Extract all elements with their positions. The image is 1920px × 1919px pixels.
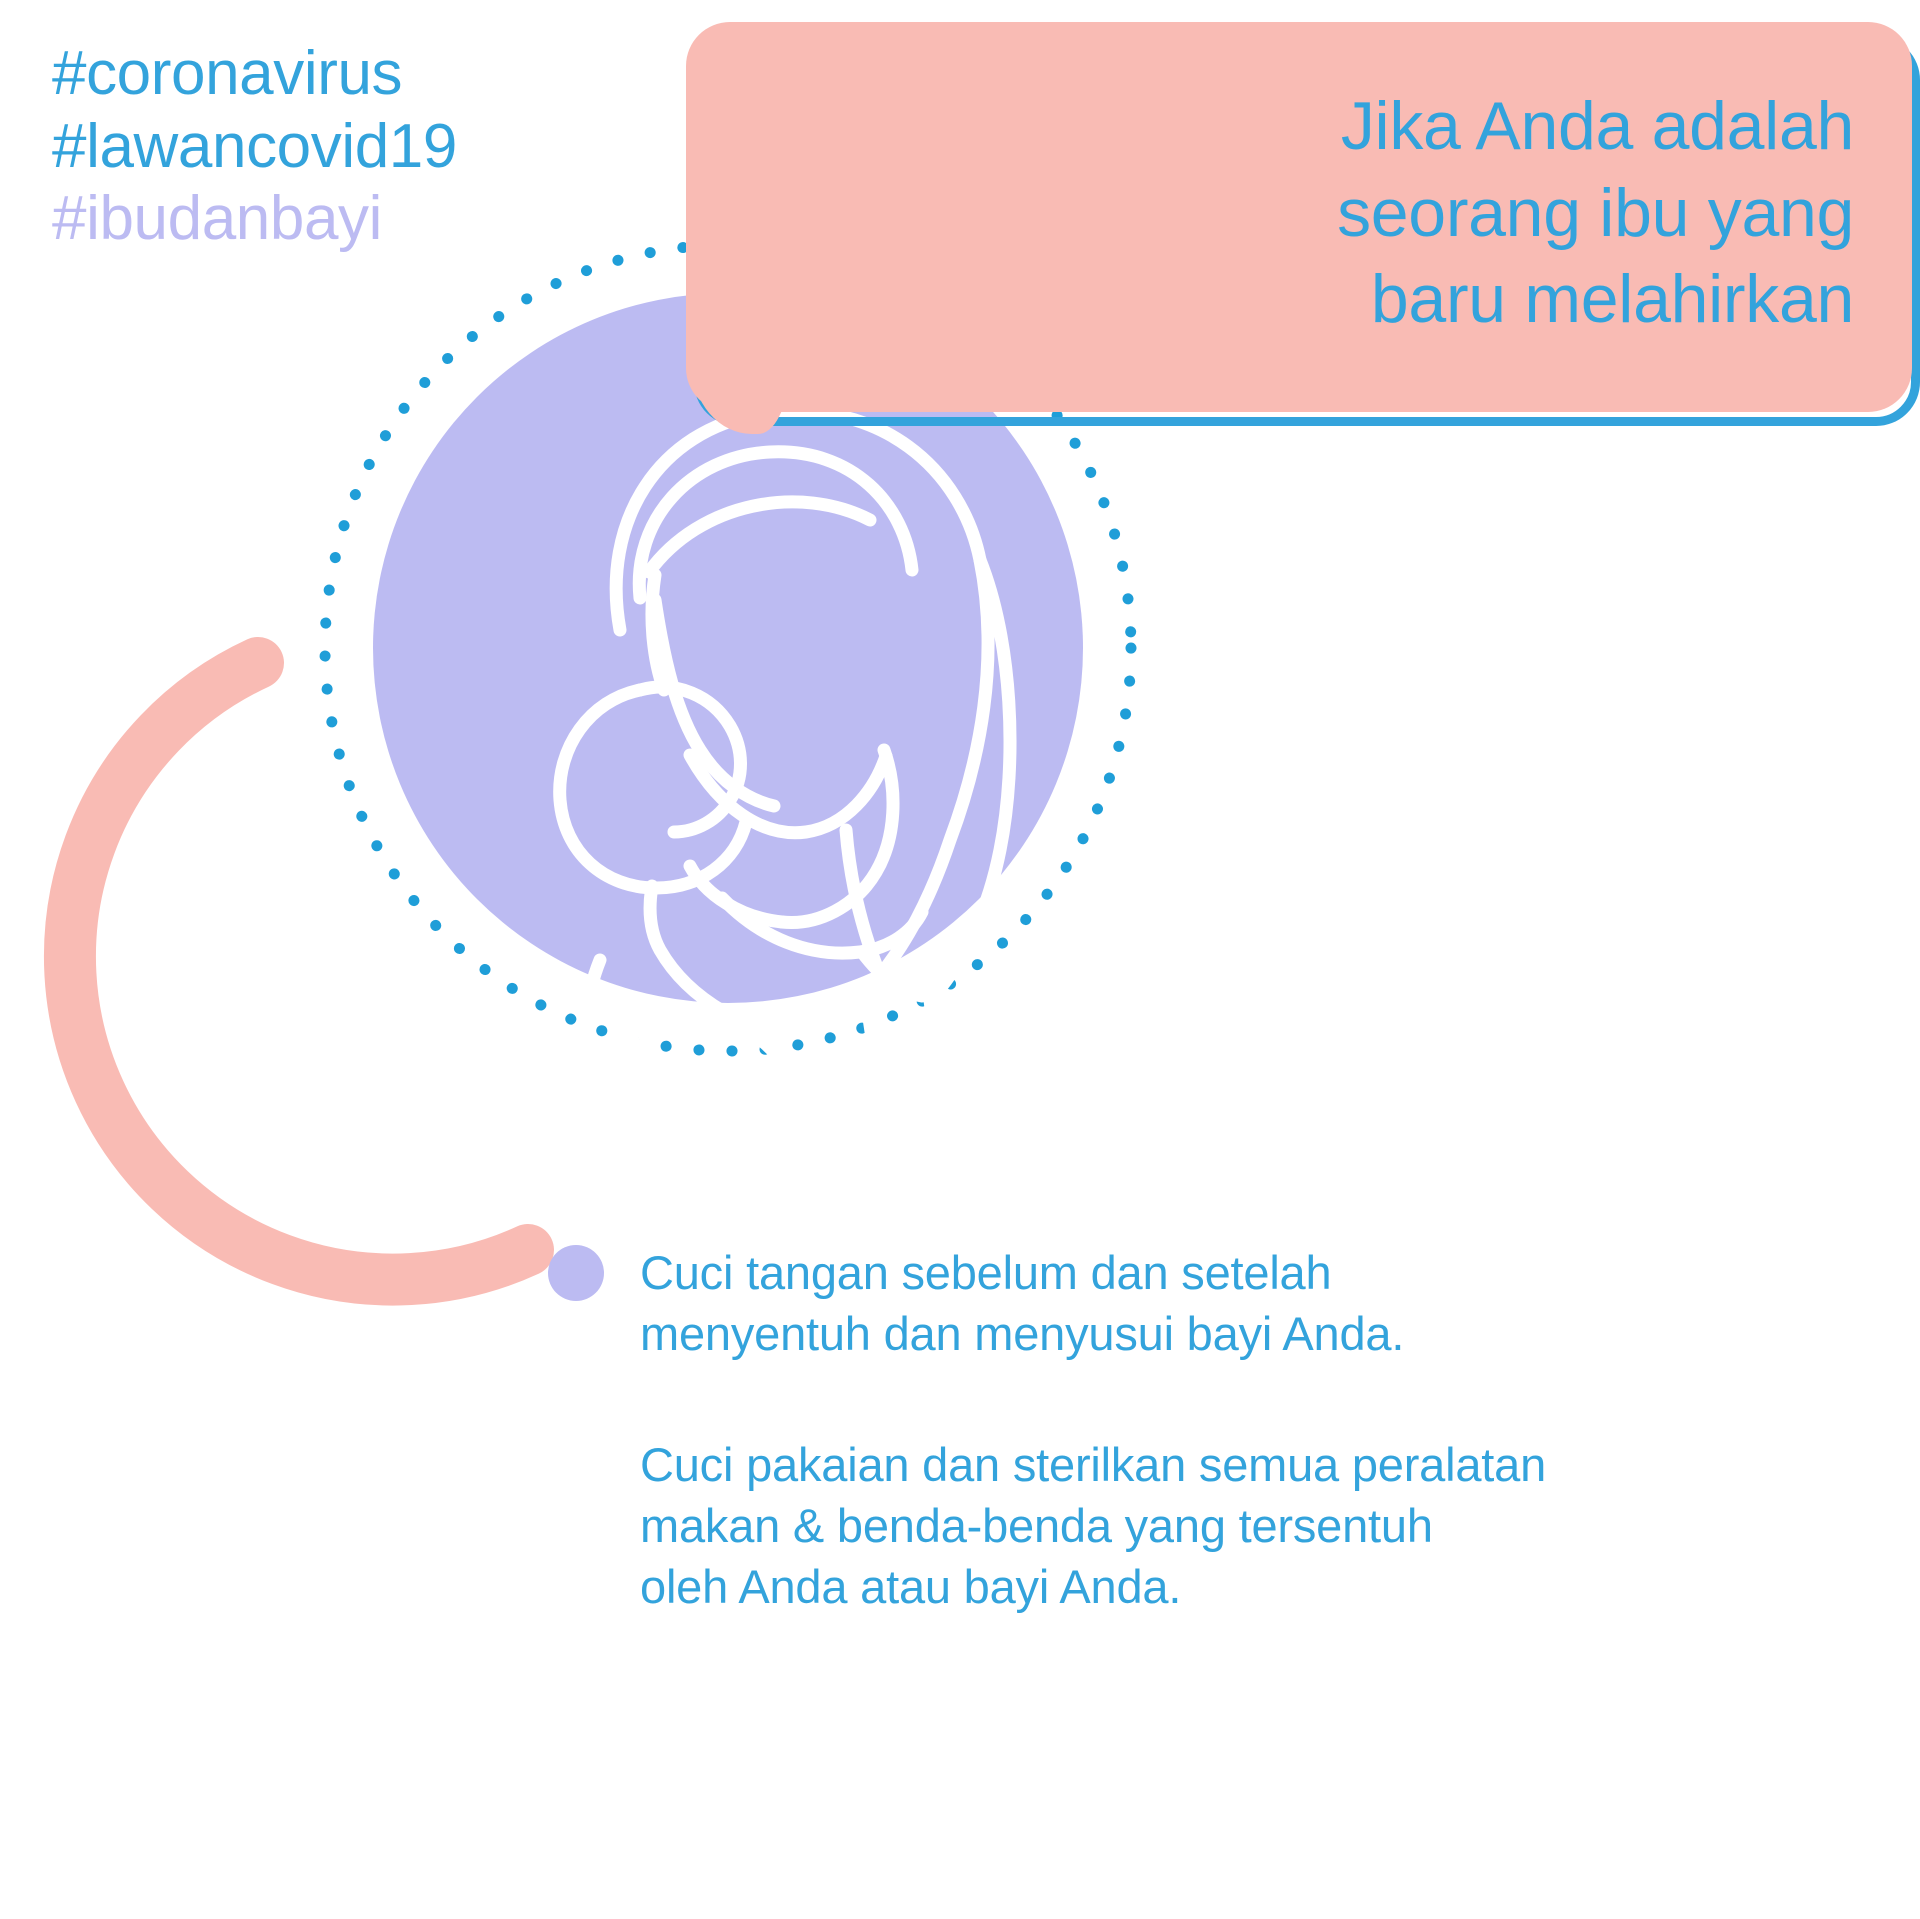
speech-bubble-line-2: seorang ibu yang bbox=[1337, 170, 1854, 256]
speech-bubble-text: Jika Anda adalah seorang ibu yang baru m… bbox=[686, 22, 1912, 412]
speech-bubble: Jika Anda adalah seorang ibu yang baru m… bbox=[686, 22, 1920, 422]
speech-bubble-line-1: Jika Anda adalah bbox=[1341, 83, 1854, 169]
tip-1-line-2: menyentuh dan menyusui bayi Anda. bbox=[640, 1303, 1700, 1364]
bullet-dot-icon bbox=[548, 1245, 604, 1301]
tip-1-line-1: Cuci tangan sebelum dan setelah bbox=[640, 1242, 1700, 1303]
tip-item-2: Cuci pakaian dan sterilkan semua peralat… bbox=[640, 1434, 1700, 1617]
tip-item-1: Cuci tangan sebelum dan setelah menyentu… bbox=[640, 1242, 1700, 1364]
tip-2-line-3: oleh Anda atau bayi Anda. bbox=[640, 1556, 1700, 1617]
infographic-poster: #coronavirus #lawancovid19 #ibudanbayi J… bbox=[0, 0, 1920, 1919]
tip-2-line-2: makan & benda-benda yang tersentuh bbox=[640, 1495, 1700, 1556]
tips-block: Cuci tangan sebelum dan setelah menyentu… bbox=[640, 1242, 1700, 1617]
hashtag-ibudanbayi: #ibudanbayi bbox=[52, 183, 457, 256]
hashtag-coronavirus: #coronavirus bbox=[52, 38, 457, 111]
hashtag-group: #coronavirus #lawancovid19 #ibudanbayi bbox=[52, 38, 457, 256]
tip-2-line-1: Cuci pakaian dan sterilkan semua peralat… bbox=[640, 1434, 1700, 1495]
pink-arc bbox=[70, 663, 528, 1280]
mother-and-baby-line-icon bbox=[560, 411, 1010, 1240]
hashtag-lawancovid19: #lawancovid19 bbox=[52, 111, 457, 184]
speech-bubble-line-3: baru melahirkan bbox=[1371, 256, 1854, 342]
